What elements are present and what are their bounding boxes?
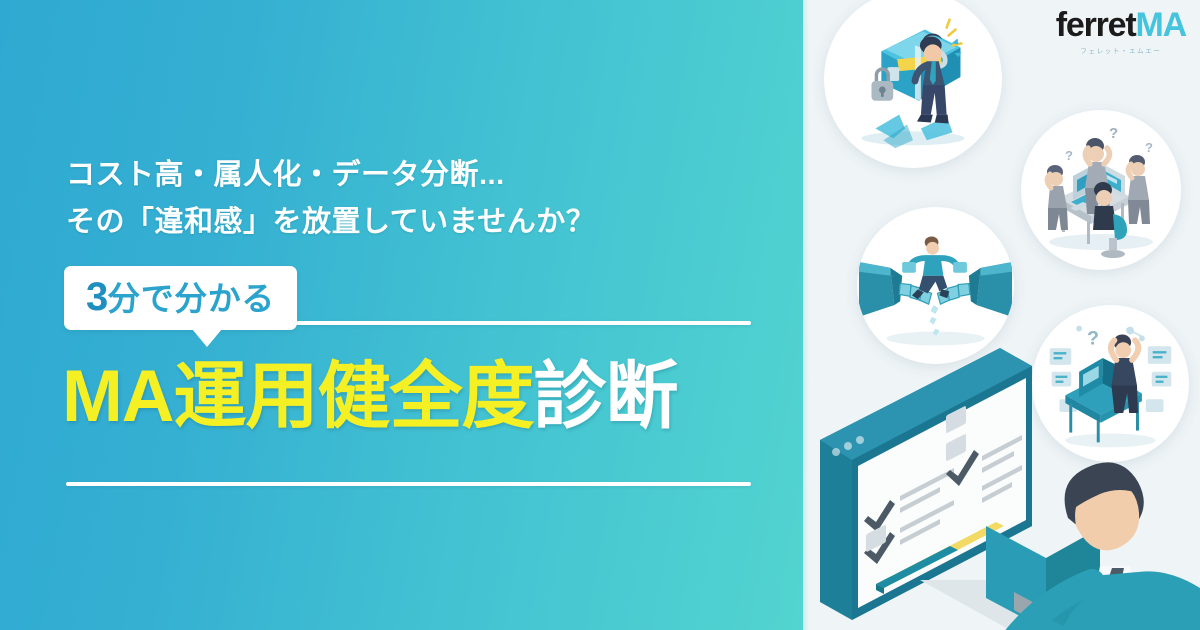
speech-bubble-tail-icon (192, 329, 222, 347)
brand-logo-wordmark: ferretMA (1056, 8, 1186, 42)
page-title: MA運用健全度診断 (62, 358, 678, 435)
speech-bubble-badge: 3分で分かる (64, 266, 297, 330)
illustration-locked-treasure-chest-burden (824, 0, 1002, 168)
lead-copy-line-1: コスト高・属人化・データ分断... (66, 152, 595, 199)
lead-copy-line-2: その「違和感」を放置していませんか？ (66, 199, 595, 246)
left-gradient-panel: コスト高・属人化・データ分断... その「違和感」を放置していませんか？ 3分で… (0, 0, 803, 630)
divider-bottom (66, 482, 751, 486)
brand-logo-secondary: MA (1136, 6, 1186, 44)
lead-copy: コスト高・属人化・データ分断... その「違和感」を放置していませんか？ (66, 152, 595, 246)
brand-logo[interactable]: ferretMA フェレット・エムエー (1056, 8, 1186, 55)
page-title-plain: 診断 (534, 356, 678, 437)
illustration-stage: ? ? (803, 0, 1200, 630)
page-title-highlight: MA運用健全度 (62, 356, 534, 437)
svg-text:?: ? (1065, 148, 1073, 163)
badge-label: 分で分かる (107, 280, 275, 317)
badge-body: 3分で分かる (64, 266, 297, 330)
banner-root: コスト高・属人化・データ分断... その「違和感」を放置していませんか？ 3分で… (0, 0, 1200, 630)
right-illustration-panel: ? ? (803, 0, 1200, 630)
svg-text:?: ? (1145, 140, 1153, 155)
brand-logo-reading: フェレット・エムエー (1056, 45, 1186, 55)
svg-text:?: ? (1109, 125, 1118, 142)
illustration-confused-team-at-monitors: ? ? (1021, 110, 1181, 270)
brand-logo-primary: ferret (1056, 6, 1136, 44)
illustration-checklist-screen-pointing-man (803, 330, 1200, 630)
badge-number: 3 (86, 275, 107, 319)
divider-top (296, 321, 751, 325)
